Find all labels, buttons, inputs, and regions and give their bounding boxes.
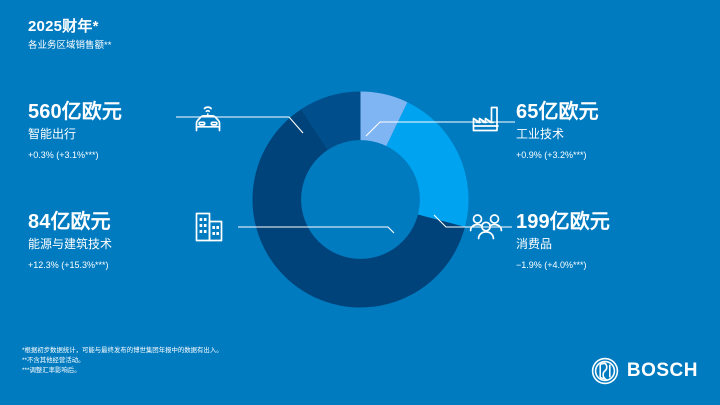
- donut-hole: [301, 140, 420, 259]
- stat-block-consumer: 199亿欧元 消费品 −1.9% (+4.0%***): [516, 210, 720, 272]
- donut-chart: [251, 90, 470, 309]
- stat-delta-mobility: +0.3% (+3.1%***): [28, 148, 243, 162]
- bosch-wordmark: BOSCH: [627, 361, 698, 381]
- stat-delta-energy: +12.3% (+15.3%***): [28, 258, 243, 272]
- footnotes: *根据初步数据统计，可能与最终发布的博世集团年报中的数据有出入。 **不含其他经…: [22, 346, 223, 376]
- stat-delta-consumer: −1.9% (+4.0%***): [516, 258, 720, 272]
- header: 2025财年* 各业务区域销售额**: [28, 18, 111, 53]
- stat-block-mobility: 560亿欧元 智能出行 +0.3% (+3.1%***): [28, 100, 243, 162]
- stat-label-energy: 能源与建筑技术: [28, 236, 243, 253]
- footnote-3: ***调整汇率影响后。: [22, 366, 223, 376]
- people-group-icon: [466, 210, 506, 242]
- stat-value-consumer: 199亿欧元: [516, 210, 720, 234]
- bosch-logo: BOSCH: [591, 357, 698, 385]
- footnote-2: **不含其他经营活动。: [22, 356, 223, 366]
- page-subtitle: 各业务区域销售额**: [28, 39, 111, 53]
- stat-label-consumer: 消费品: [516, 236, 720, 253]
- stat-value-industry: 65亿欧元: [516, 100, 720, 124]
- stat-value-mobility: 560亿欧元: [28, 100, 243, 124]
- donut-chart-svg: [251, 90, 470, 309]
- stat-block-energy: 84亿欧元 能源与建筑技术 +12.3% (+15.3%***): [28, 210, 243, 272]
- stat-label-mobility: 智能出行: [28, 126, 243, 143]
- factory-icon: [470, 103, 506, 135]
- stat-label-industry: 工业技术: [516, 126, 720, 143]
- page-title: 2025财年*: [28, 18, 111, 36]
- bosch-anchor-icon: [591, 357, 619, 385]
- footnote-1: *根据初步数据统计，可能与最终发布的博世集团年报中的数据有出入。: [22, 346, 223, 356]
- stat-block-industry: 65亿欧元 工业技术 +0.9% (+3.2%***): [516, 100, 720, 162]
- stat-value-energy: 84亿欧元: [28, 210, 243, 234]
- stat-delta-industry: +0.9% (+3.2%***): [516, 148, 720, 162]
- slide-canvas: 2025财年* 各业务区域销售额**: [0, 0, 720, 405]
